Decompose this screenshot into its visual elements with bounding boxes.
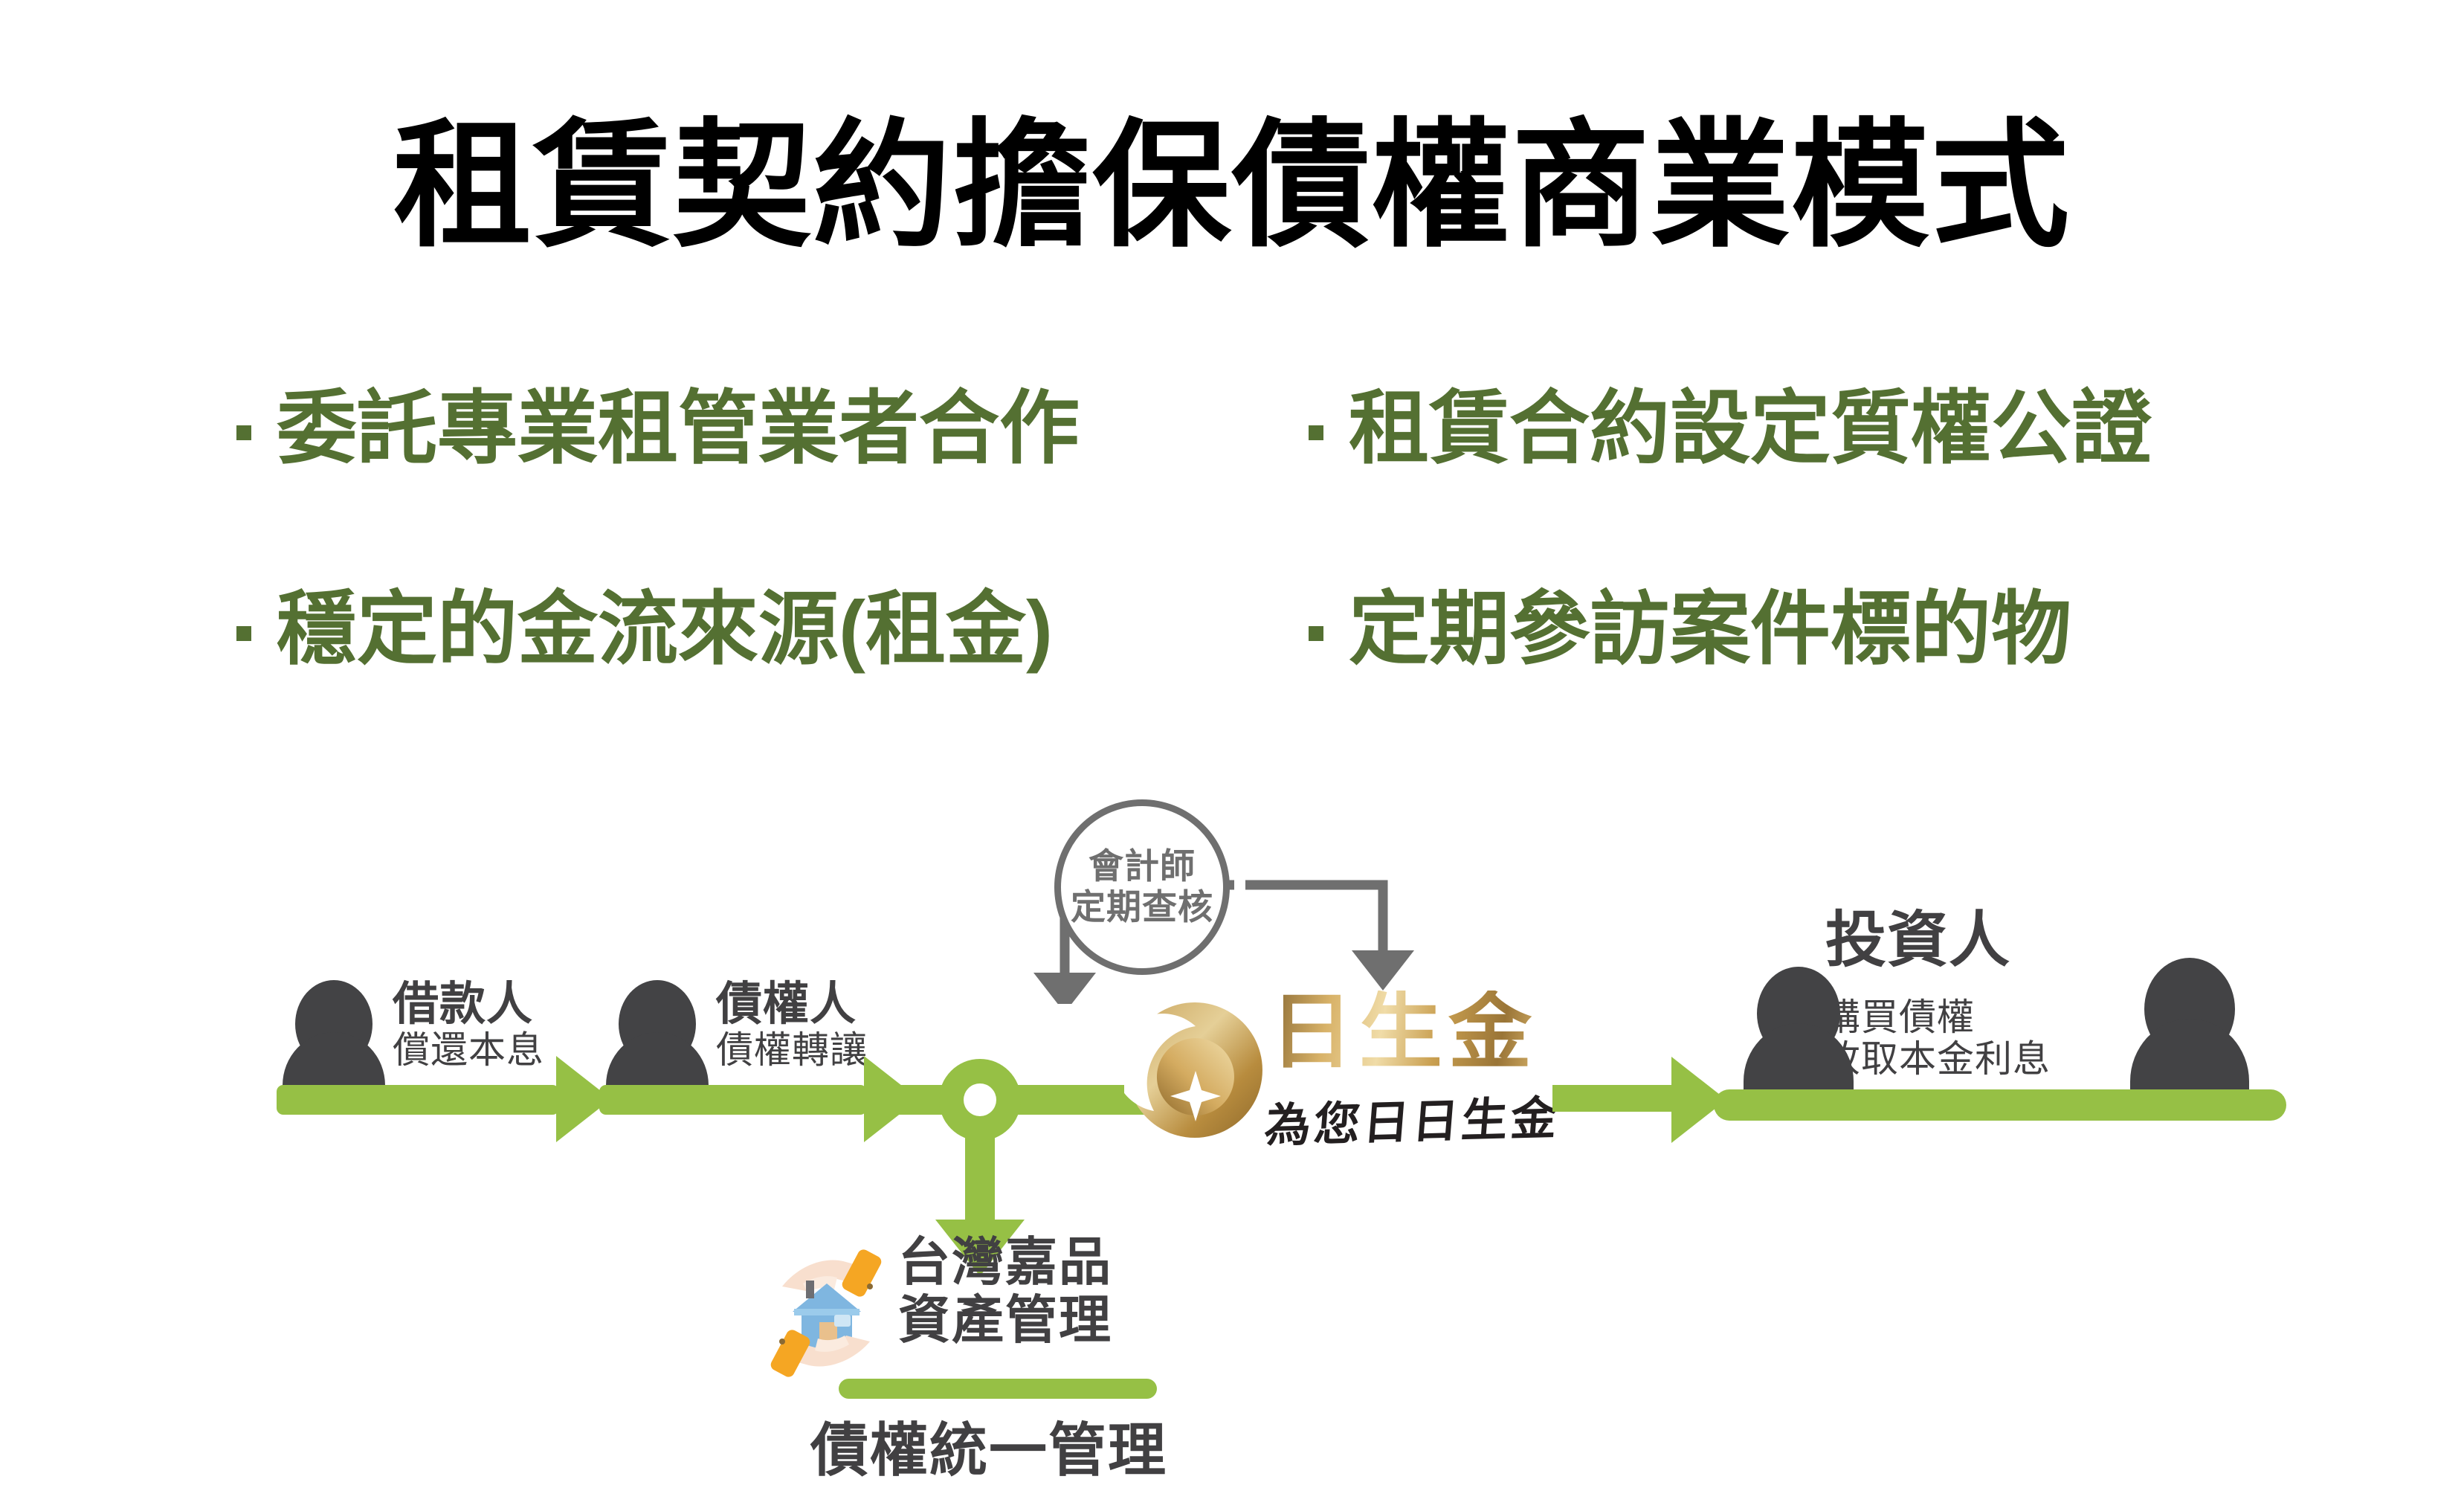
rishengjin-logo: 日生金 為您日日生金: [1124, 989, 1526, 1160]
bullet-label-2: 租賃合約設定質權公證: [1349, 388, 2152, 468]
creditor-avatar: [606, 980, 709, 1101]
bullet-marker-icon: [236, 425, 251, 440]
investor-subtitle-1: 購買債權: [1823, 996, 2051, 1038]
company-to-investor-bar: [1552, 1085, 1675, 1112]
borrower-base-bar: [277, 1085, 559, 1115]
bullet-item-3: 穩定的金流來源(租金): [236, 589, 1053, 669]
borrower-label: 借款人 償還本息: [393, 980, 544, 1071]
bullet-item-4: 定期參訪案件標的物: [1309, 589, 2071, 669]
investor-subtitle-wrap: 購買債權 收取本金利息: [1823, 996, 2051, 1080]
borrower-avatar: [283, 980, 385, 1101]
investor-base-bar: [1714, 1089, 2286, 1121]
slide-canvas: 租賃契約擔保債權商業模式 委託專業租管業者合作 租賃合約設定質權公證 穩定的金流…: [0, 0, 2464, 1488]
creditor-label: 債權人 債權轉讓: [716, 980, 868, 1071]
bullet-marker-icon: [236, 626, 251, 641]
bullet-label-1: 委託專業租管業者合作: [277, 388, 1080, 468]
avatar-body-icon: [1744, 1023, 1854, 1098]
bullet-label-4: 定期參訪案件標的物: [1349, 589, 2071, 669]
asset-manager-name-line2: 資產管理: [898, 1291, 1112, 1349]
bullet-marker-icon: [1309, 425, 1323, 440]
investor-subtitle-2: 收取本金利息: [1823, 1038, 2051, 1080]
investor-avatar-right: [2130, 958, 2249, 1099]
creditor-title: 債權人: [716, 980, 868, 1029]
creditor-subtitle: 債權轉讓: [716, 1029, 868, 1071]
junction-center-dot-icon: [964, 1083, 996, 1116]
borrower-title: 借款人: [393, 980, 544, 1029]
investor-title-wrap: 投資人: [1825, 909, 2010, 973]
bullet-item-1: 委託專業租管業者合作: [236, 388, 1080, 468]
flow-junction-node: [939, 1059, 1021, 1141]
asset-manager-block: 台灣嘉品 資產管理 債權統一管理: [766, 1234, 1152, 1398]
accountant-node: 會計師 定期查核: [1054, 799, 1230, 975]
bullet-marker-icon: [1309, 626, 1323, 641]
asset-manager-name: 台灣嘉品 資產管理: [898, 1233, 1112, 1350]
bullet-label-3: 穩定的金流來源(租金): [277, 589, 1053, 669]
asset-manager-name-line1: 台灣嘉品: [898, 1233, 1112, 1291]
hands-holding-house-icon: [760, 1237, 892, 1386]
asset-manager-underline: [839, 1379, 1157, 1399]
accountant-line-1: 會計師: [1089, 846, 1196, 887]
borrower-subtitle: 償還本息: [393, 1029, 544, 1071]
investor-avatar-left: [1744, 967, 1854, 1098]
investor-title: 投資人: [1825, 909, 2010, 973]
creditor-base-bar: [599, 1085, 867, 1115]
page-title: 租賃契約擔保債權商業模式: [0, 112, 2464, 258]
rishengjin-tagline: 為您日日生金: [1262, 1080, 1563, 1155]
accountant-line-2: 定期查核: [1071, 887, 1213, 928]
rishengjin-mark-icon: [1124, 999, 1265, 1148]
bullet-list: 委託專業租管業者合作 租賃合約設定質權公證 穩定的金流來源(租金) 定期參訪案件…: [0, 357, 2464, 729]
asset-manager-caption: 債權統一管理: [810, 1404, 1167, 1487]
bullet-item-2: 租賃合約設定質權公證: [1309, 388, 2152, 468]
